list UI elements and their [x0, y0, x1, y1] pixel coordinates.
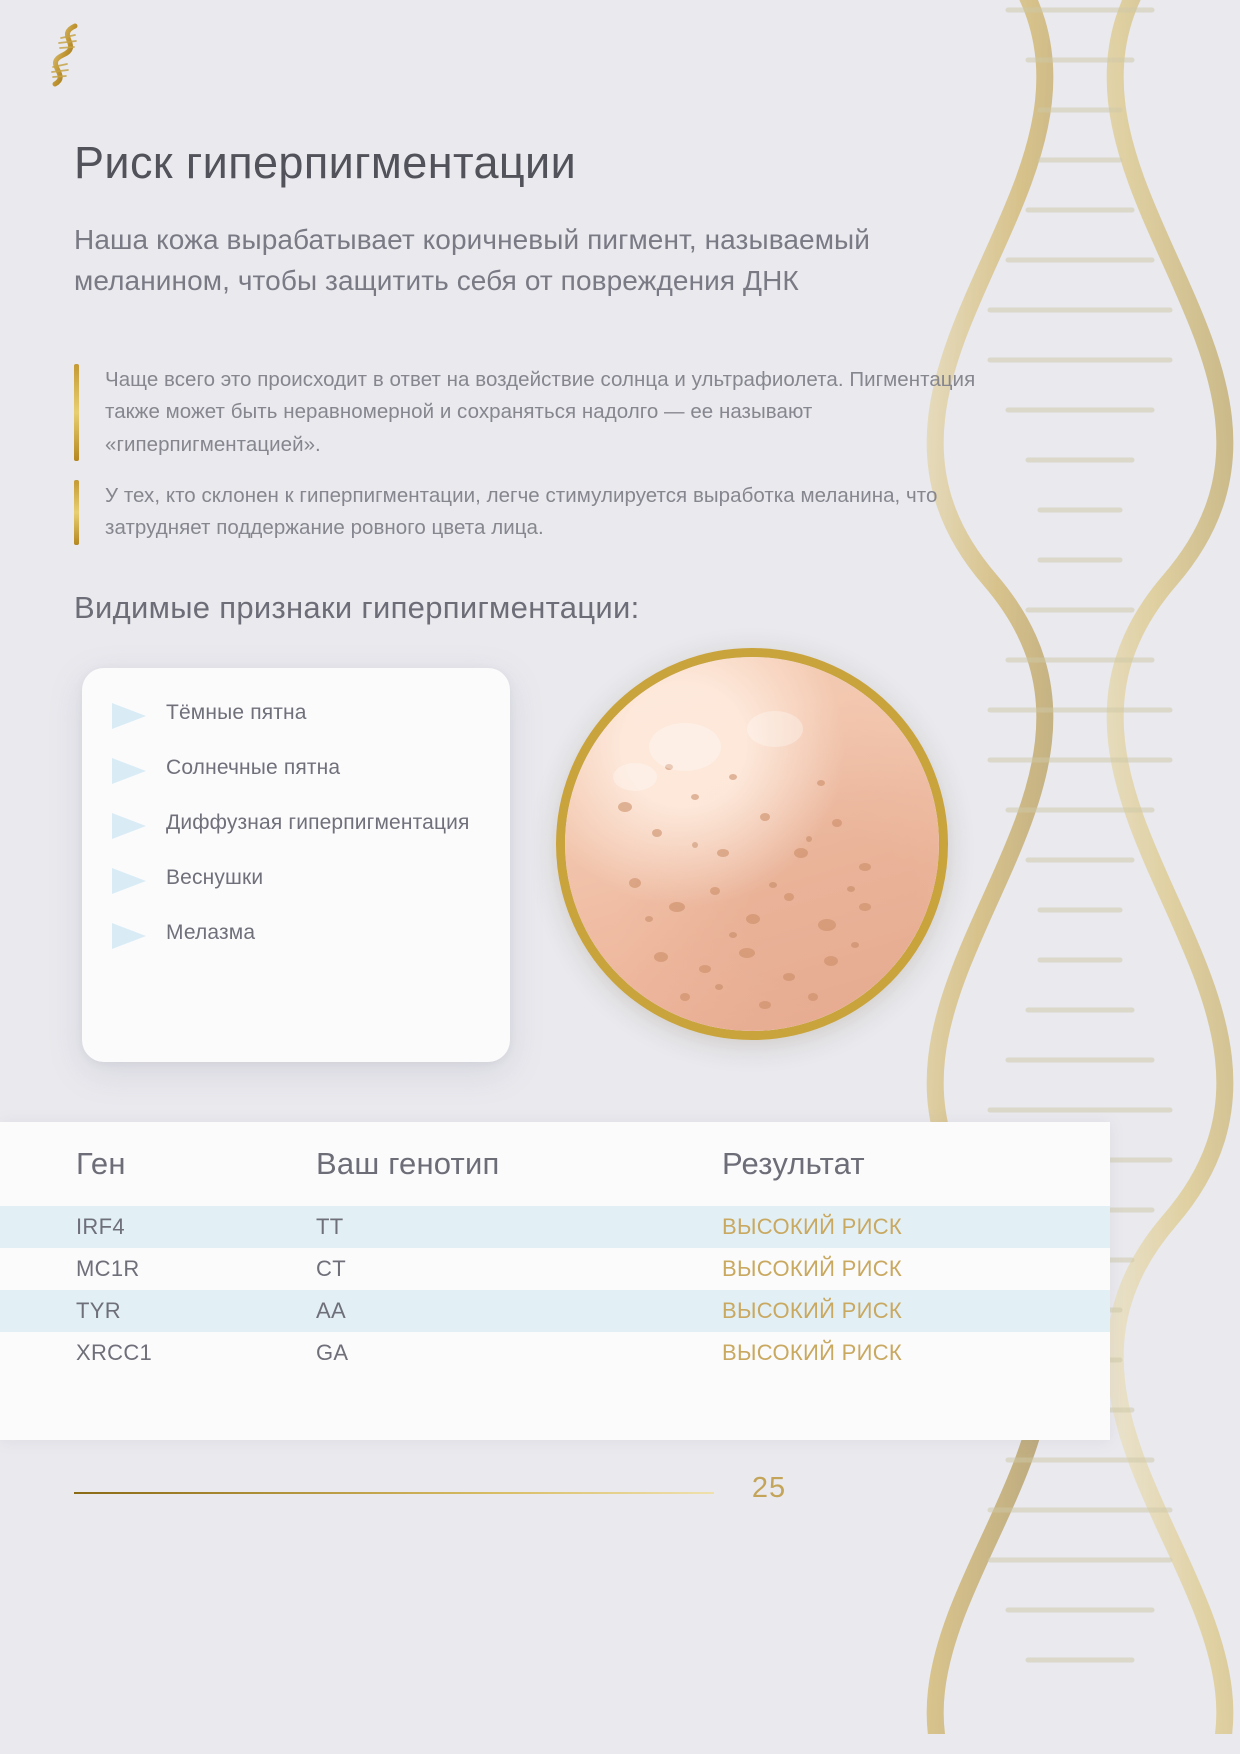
cell-result: ВЫСОКИЙ РИСК: [722, 1214, 1110, 1240]
table-row: MC1R CT ВЫСОКИЙ РИСК: [0, 1248, 1110, 1290]
skin-texture: [565, 657, 939, 1031]
list-item-label: Тёмные пятна: [166, 698, 307, 728]
list-item-label: Веснушки: [166, 863, 263, 893]
skin-closeup-photo: [556, 648, 948, 1040]
quote-text: Чаще всего это происходит в ответ на воз…: [105, 364, 1004, 461]
cell-genotype: GA: [316, 1340, 722, 1366]
cell-genotype: CT: [316, 1256, 722, 1282]
cell-gene: MC1R: [0, 1256, 316, 1282]
quote-block: У тех, кто склонен к гиперпигментации, л…: [74, 480, 1004, 545]
table-row: XRCC1 GA ВЫСОКИЙ РИСК: [0, 1332, 1110, 1374]
cell-gene: TYR: [0, 1298, 316, 1324]
triangle-bullet-icon: [112, 923, 146, 949]
footer-divider: [74, 1492, 714, 1494]
report-page: Риск гиперпигментации Наша кожа вырабаты…: [0, 0, 1240, 1754]
page-number: 25: [714, 1472, 824, 1505]
visible-signs-card: Тёмные пятна Солнечные пятна Диффузная г…: [82, 668, 510, 1062]
quote-block: Чаще всего это происходит в ответ на воз…: [74, 364, 1004, 461]
table-row: IRF4 TT ВЫСОКИЙ РИСК: [0, 1206, 1110, 1248]
gold-accent-bar: [74, 480, 79, 545]
triangle-bullet-icon: [112, 703, 146, 729]
page-subtitle: Наша кожа вырабатывает коричневый пигмен…: [74, 220, 974, 302]
triangle-bullet-icon: [112, 868, 146, 894]
cell-result: ВЫСОКИЙ РИСК: [722, 1298, 1110, 1324]
cell-result: ВЫСОКИЙ РИСК: [722, 1256, 1110, 1282]
cell-result: ВЫСОКИЙ РИСК: [722, 1340, 1110, 1366]
cell-genotype: AA: [316, 1298, 722, 1324]
signs-section-heading: Видимые признаки гиперпигментации:: [74, 590, 640, 626]
list-item-label: Солнечные пятна: [166, 753, 340, 783]
column-header-gene: Ген: [0, 1146, 316, 1182]
page-title: Риск гиперпигментации: [74, 138, 1014, 188]
quote-text: У тех, кто склонен к гиперпигментации, л…: [105, 480, 1004, 545]
list-item-label: Мелазма: [166, 918, 255, 948]
list-item: Тёмные пятна: [82, 698, 510, 729]
cell-gene: XRCC1: [0, 1340, 316, 1366]
list-item: Мелазма: [82, 918, 510, 949]
list-item: Диффузная гиперпигментация: [82, 808, 510, 839]
cell-genotype: TT: [316, 1214, 722, 1240]
triangle-bullet-icon: [112, 813, 146, 839]
list-item: Веснушки: [82, 863, 510, 894]
triangle-bullet-icon: [112, 758, 146, 784]
column-header-genotype: Ваш генотип: [316, 1146, 722, 1182]
list-item: Солнечные пятна: [82, 753, 510, 784]
table-footer-spacer: [0, 1374, 1110, 1440]
table-row: TYR AA ВЫСОКИЙ РИСК: [0, 1290, 1110, 1332]
gold-accent-bar: [74, 364, 79, 461]
column-header-result: Результат: [722, 1146, 1110, 1182]
cell-gene: IRF4: [0, 1214, 316, 1240]
genotype-results-table: Ген Ваш генотип Результат IRF4 TT ВЫСОКИ…: [0, 1122, 1110, 1440]
table-header-row: Ген Ваш генотип Результат: [0, 1122, 1110, 1206]
list-item-label: Диффузная гиперпигментация: [166, 808, 470, 838]
dna-helix-logo-icon: [46, 22, 92, 88]
